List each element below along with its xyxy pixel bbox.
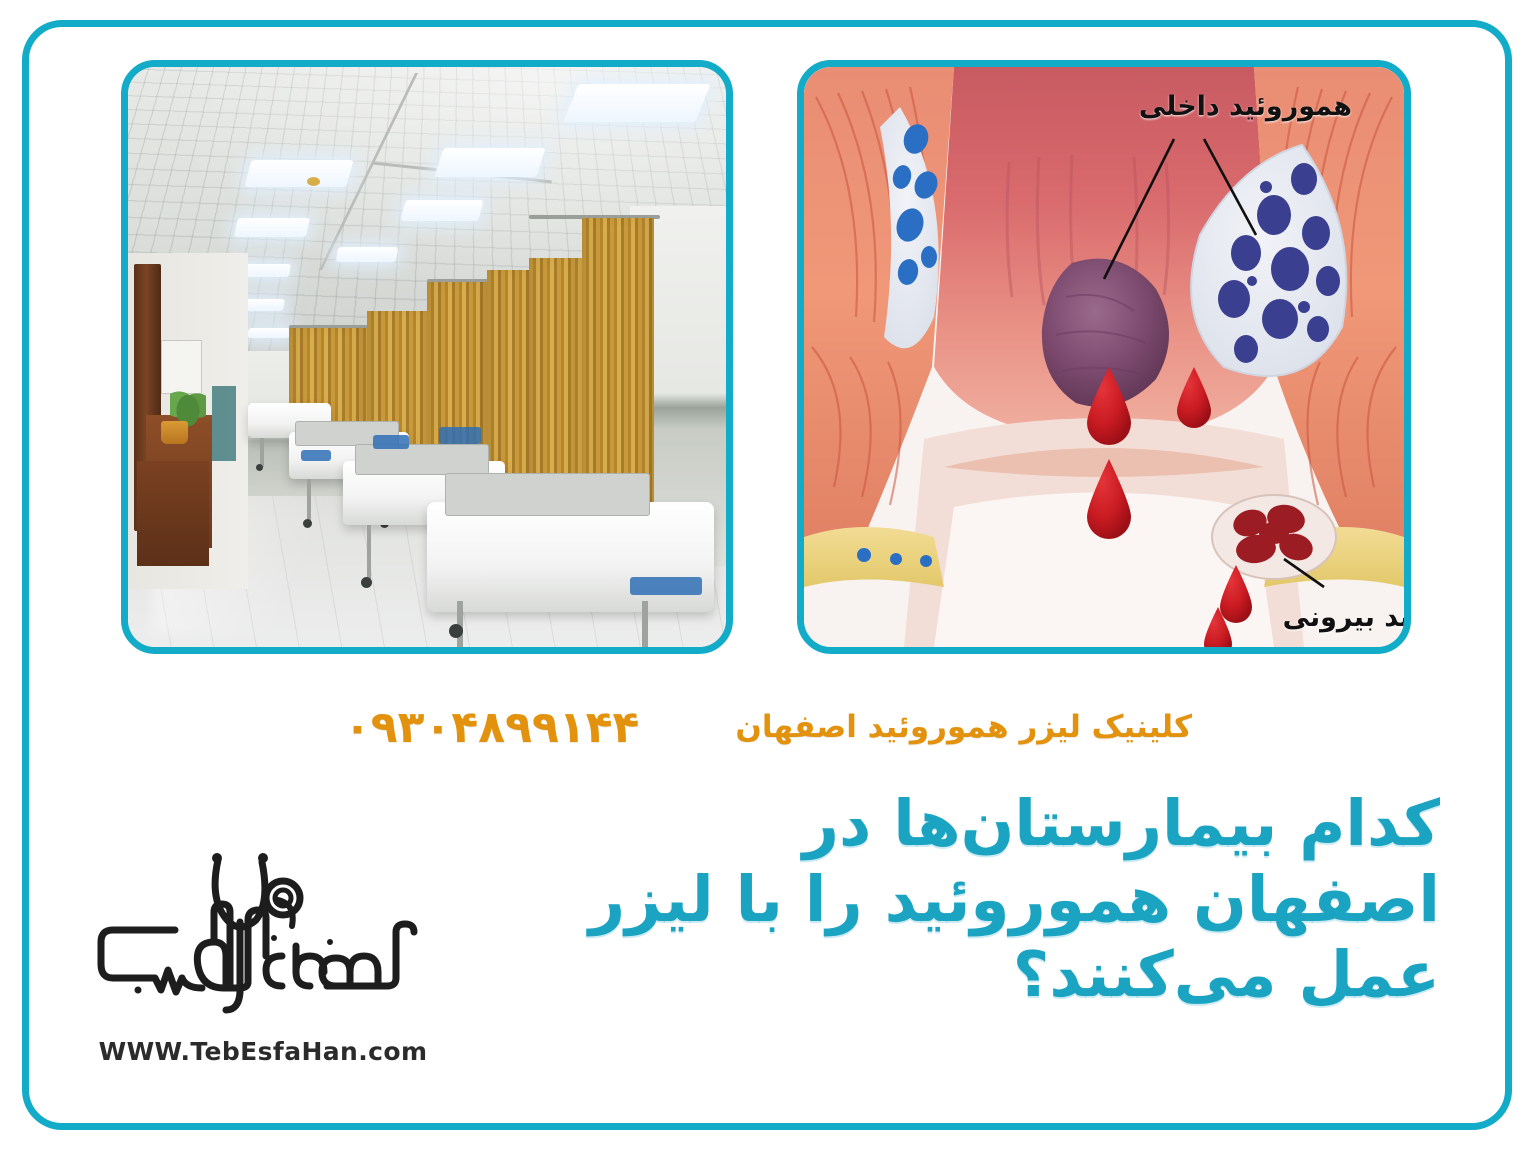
clinic-name: کلینیک لیزر هموروئید اصفهان — [735, 709, 1192, 745]
bed-leg — [307, 479, 311, 525]
bed-leg — [642, 601, 648, 647]
headline-line-3: عمل می‌کنند؟ — [410, 937, 1440, 1013]
phone-number[interactable]: ۰۹۳۰۴۸۹۹۱۴۴ — [344, 702, 639, 753]
brand-logo[interactable]: WWW.TebEsfaHan.com — [78, 838, 448, 1070]
internal-hemorrhoid-label: هموروئید داخلی — [1139, 91, 1352, 122]
green-door — [212, 386, 236, 461]
bed-wheel — [449, 624, 463, 638]
bed-leg — [260, 438, 264, 467]
page-title: کدام بیمارستان‌ها در اصفهان هموروئید را … — [410, 786, 1440, 1013]
ceiling-light — [247, 328, 290, 338]
bed-leg — [367, 525, 371, 583]
ward-scene — [128, 67, 726, 647]
ceiling-light — [234, 218, 310, 237]
external-hemorrhoid-label: ید بیرونی — [1283, 602, 1404, 633]
plant-vase — [161, 421, 188, 444]
contact-line: کلینیک لیزر هموروئید اصفهان ۰۹۳۰۴۸۹۹۱۴۴ — [0, 698, 1536, 756]
hospital-ward-photo-inner — [128, 67, 726, 647]
logo-website-url[interactable]: WWW.TebEsfaHan.com — [78, 1037, 448, 1066]
ceiling-light — [434, 148, 545, 177]
logo-artwork — [78, 838, 448, 1038]
ceiling-light — [336, 247, 398, 262]
headline-line-1: کدام بیمارستان‌ها در — [410, 786, 1440, 862]
bed-wheel — [303, 519, 312, 528]
bed-side-rail — [445, 473, 650, 516]
ceiling-light — [563, 84, 710, 122]
ceiling-light — [244, 160, 353, 187]
bed-blue-accent — [373, 435, 409, 449]
bed-blue-accent — [439, 427, 481, 444]
ceiling-light — [400, 200, 483, 221]
bed-blue-accent — [301, 450, 331, 462]
banner-page: هموروئید داخلی ید بیرونی کلینیک لیزر همو… — [0, 0, 1536, 1152]
hemorrhoid-anatomy-inner: هموروئید داخلی ید بیرونی — [804, 67, 1404, 647]
headline-line-2: اصفهان هموروئید را با لیزر — [410, 862, 1440, 938]
anatomy-svg — [804, 67, 1404, 647]
hospital-ward-photo — [121, 60, 733, 654]
reception-desk-front — [137, 461, 209, 565]
bed-blue-accent — [630, 577, 702, 594]
hospital-bed — [427, 502, 714, 612]
hemorrhoid-anatomy-illustration: هموروئید داخلی ید بیرونی — [797, 60, 1411, 654]
